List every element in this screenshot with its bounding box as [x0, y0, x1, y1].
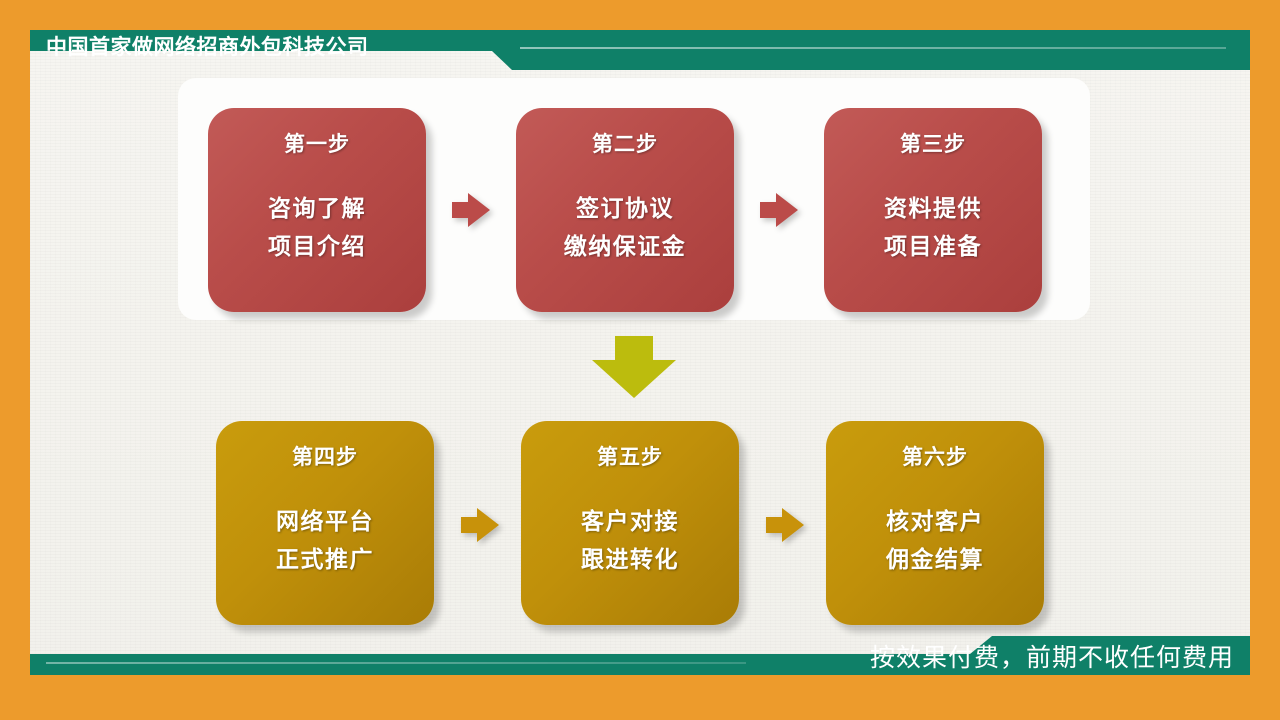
step-card-2-line-1: 签订协议: [564, 191, 687, 229]
step-card-6-line-1: 核对客户: [886, 504, 984, 542]
step-card-6-line-2: 佣金结算: [886, 542, 984, 580]
step-card-5-body: 客户对接 跟进转化: [581, 504, 679, 580]
arrow-head: [776, 193, 798, 227]
arrow-head: [592, 360, 676, 398]
page-title: 中国首家做网络招商外包科技公司: [46, 37, 369, 58]
step-card-2-body: 签订协议 缴纳保证金: [564, 191, 687, 267]
arrow-head: [782, 508, 804, 542]
step-card-1-line-1: 咨询了解: [268, 191, 366, 229]
step-card-3-title: 第三步: [900, 134, 966, 155]
step-card-1-body: 咨询了解 项目介绍: [268, 191, 366, 267]
step-card-2-title: 第二步: [592, 134, 658, 155]
step-card-4-line-2: 正式推广: [276, 542, 374, 580]
step-card-2-line-2: 缴纳保证金: [564, 229, 687, 267]
step-card-2[interactable]: 第二步 签订协议 缴纳保证金: [516, 108, 734, 312]
step-card-5-line-2: 跟进转化: [581, 542, 679, 580]
footer-tagline: 按效果付费，前期不收任何费用: [870, 645, 1234, 670]
step-card-5-title: 第五步: [597, 447, 663, 468]
slide-canvas: 中国首家做网络招商外包科技公司 第一步 咨询了解 项目介绍 第二步 签订协议 缴…: [0, 0, 1280, 720]
arrow-down-icon-step3-step4: [592, 336, 676, 398]
footer-hairline-divider: [46, 662, 746, 664]
step-card-3-body: 资料提供 项目准备: [884, 191, 982, 267]
step-card-4-title: 第四步: [292, 447, 358, 468]
step-card-6-title: 第六步: [902, 447, 968, 468]
arrow-head: [468, 193, 490, 227]
header-hairline-divider: [520, 47, 1226, 49]
arrow-head: [477, 508, 499, 542]
step-card-6-body: 核对客户 佣金结算: [886, 504, 984, 580]
step-card-3-line-1: 资料提供: [884, 191, 982, 229]
step-card-3-line-2: 项目准备: [884, 229, 982, 267]
step-card-5[interactable]: 第五步 客户对接 跟进转化: [521, 421, 739, 625]
step-card-1-line-2: 项目介绍: [268, 229, 366, 267]
arrow-shaft: [615, 336, 653, 362]
arrow-right-icon-step4-step5: [461, 508, 499, 542]
step-card-4-line-1: 网络平台: [276, 504, 374, 542]
step-card-4[interactable]: 第四步 网络平台 正式推广: [216, 421, 434, 625]
step-card-3[interactable]: 第三步 资料提供 项目准备: [824, 108, 1042, 312]
step-card-1-title: 第一步: [284, 134, 350, 155]
arrow-right-icon-step1-step2: [452, 193, 490, 227]
arrow-right-icon-step2-step3: [760, 193, 798, 227]
step-card-4-body: 网络平台 正式推广: [276, 504, 374, 580]
step-card-1[interactable]: 第一步 咨询了解 项目介绍: [208, 108, 426, 312]
arrow-right-icon-step5-step6: [766, 508, 804, 542]
step-card-5-line-1: 客户对接: [581, 504, 679, 542]
step-card-6[interactable]: 第六步 核对客户 佣金结算: [826, 421, 1044, 625]
